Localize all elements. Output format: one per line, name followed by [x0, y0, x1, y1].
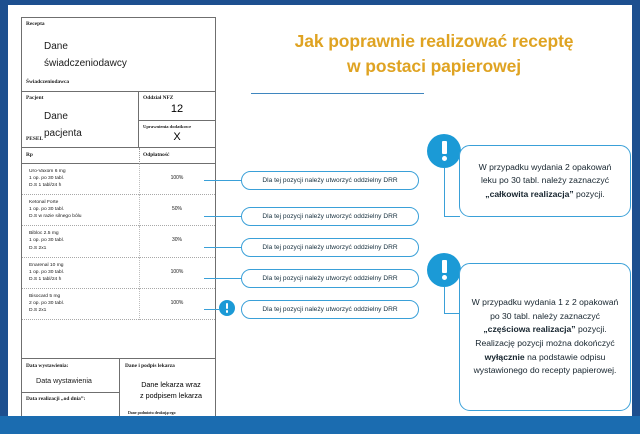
rp-column-divider [139, 148, 140, 164]
page-title-line1: Jak poprawnie realizować receptę [236, 29, 632, 54]
drug-copay: 100% [139, 300, 215, 306]
connector-row-to-pill [204, 216, 242, 217]
value-issue-date: Data wystawienia [36, 376, 92, 385]
connector-badge1-trunk [444, 168, 445, 216]
slide-root: Jak poprawnie realizować receptę w posta… [0, 0, 640, 434]
connector-badge2-to-pill [444, 313, 460, 314]
label-swiadczeniodawca: Świadczeniodawca [26, 79, 69, 85]
label-nfz: Oddział NFZ [143, 95, 173, 101]
connector-badge2-trunk [444, 287, 445, 313]
info-box-2-text: W przypadku wydania 1 z 2 opakowań po 30… [471, 296, 619, 378]
label-pacjent: Pacjent [26, 95, 43, 101]
value-patient-line1: Dane [44, 108, 82, 125]
value-doctor-line2: z podpisem lekarza [127, 390, 215, 401]
exclamation-icon-1 [427, 134, 461, 168]
form-section-patient: Pacjent Dane pacjenta PESEL Oddział NFZ … [22, 92, 215, 148]
drug-dosage: D.S 1 tabl/24 h [29, 182, 66, 189]
callout-pill-text: Dla tej pozycji należy utworzyć oddzieln… [262, 213, 397, 220]
drug-packaging: 1 op. po 30 tabl. [29, 269, 64, 276]
value-provider: Dane świadczeniodawcy [44, 38, 127, 72]
callout-pill: Dla tej pozycji należy utworzyć oddzieln… [241, 269, 419, 288]
label-printing-entity: Dane podmiotu drukującego [128, 411, 176, 415]
callout-pill-text: Dla tej pozycji należy utworzyć oddzieln… [262, 306, 397, 313]
column-header-rp: Rp [26, 152, 33, 158]
drug-dosage: D.S 1 tabl/24 h [29, 276, 64, 283]
info-box-full-realization: W przypadku wydania 2 opakowań leku po 3… [459, 145, 631, 217]
issue-date-cell: Data wystawienia: Data wystawienia Data … [22, 359, 120, 421]
drug-name: Bisocard 5 mg [29, 293, 64, 300]
drug-row: Bibloc 2.5 mg1 op. po 30 tabl.D.S 2x130% [22, 226, 215, 257]
value-provider-line1: Dane [44, 38, 127, 55]
callout-pill: Dla tej pozycji należy utworzyć oddzieln… [241, 207, 419, 226]
exclamation-icon-2 [427, 253, 461, 287]
connector-row-to-pill [204, 180, 242, 181]
drug-details: Bibloc 2.5 mg1 op. po 30 tabl.D.S 2x1 [29, 230, 64, 251]
connector-badge1-to-pill [444, 216, 460, 217]
drug-name: Ketonal Forte [29, 199, 81, 206]
value-provider-line2: świadczeniodawcy [44, 55, 127, 72]
connector-row-to-pill [204, 247, 242, 248]
drug-details: Ketonal Forte1 op. po 30 tabl.D.S w razi… [29, 199, 81, 220]
value-patient-line2: pacjenta [44, 125, 82, 142]
drug-name: Enarenal 10 mg [29, 262, 64, 269]
drug-name: Bibloc 2.5 mg [29, 230, 64, 237]
label-realization-date: Data realizacji „od dnia”: [26, 396, 85, 402]
drug-details: Enarenal 10 mg1 op. po 30 tabl.D.S 1 tab… [29, 262, 64, 283]
form-section-provider: Recepta Dane świadczeniodawcy Świadczeni… [22, 18, 215, 92]
info-box-partial-realization: W przypadku wydania 1 z 2 opakowań po 30… [459, 263, 631, 411]
drug-packaging: 1 op. po 30 tabl. [29, 237, 64, 244]
slide-canvas: Jak poprawnie realizować receptę w posta… [8, 5, 632, 416]
extra-rights-cell: Uprawnienia dodatkowe X [139, 121, 215, 148]
value-doctor: Dane lekarza wraz z podpisem lekarza [127, 379, 215, 401]
value-patient: Dane pacjenta [44, 108, 82, 142]
doctor-cell: Dane i podpis lekarza Dane lekarza wraz … [120, 359, 215, 421]
drug-rows: Uro-Vaxom 6 mg1 op. po 30 tabl.D.S 1 tab… [22, 164, 215, 320]
drug-packaging: 1 op. po 30 tabl. [29, 175, 66, 182]
value-nfz: 12 [139, 103, 215, 115]
drug-copay: 30% [139, 237, 215, 243]
form-section-footer: Data wystawienia: Data wystawienia Data … [22, 358, 215, 420]
exclamation-small-icon [219, 300, 235, 316]
form-section-rp-header: Rp Odpłatność [22, 148, 215, 164]
connector-row-to-pill [204, 278, 242, 279]
drug-copay: 50% [139, 206, 215, 212]
drug-dosage: D.S 2x1 [29, 245, 64, 252]
drug-details: Bisocard 5 mg2 op. po 30 tabl.D.S 2x1 [29, 293, 64, 314]
callout-pill: Dla tej pozycji należy utworzyć oddzieln… [241, 171, 419, 190]
bottom-accent-band [0, 416, 640, 434]
title-divider [251, 93, 424, 94]
info-text: W przypadku wydania 1 z 2 opakowań po 30… [472, 297, 619, 321]
drug-dosage: D.S w razie silnego bólu [29, 213, 81, 220]
info-box-1-text: W przypadku wydania 2 opakowań leku po 3… [471, 161, 619, 202]
drug-details: Uro-Vaxom 6 mg1 op. po 30 tabl.D.S 1 tab… [29, 168, 66, 189]
column-header-copay: Odpłatność [143, 152, 169, 158]
drug-copay: 100% [139, 269, 215, 275]
value-extra-rights: X [139, 131, 215, 143]
drug-row: Bisocard 5 mg2 op. po 30 tabl.D.S 2x1100… [22, 289, 215, 320]
label-extra-rights: Uprawnienia dodatkowe [143, 124, 191, 129]
connector-row-to-pill [204, 309, 219, 310]
page-title-line2: w postaci papierowej [236, 54, 632, 79]
label-issue-date: Data wystawienia: [26, 363, 68, 369]
drug-packaging: 2 op. po 30 tabl. [29, 300, 64, 307]
drug-row: Ketonal Forte1 op. po 30 tabl.D.S w razi… [22, 195, 215, 226]
nfz-cell: Oddział NFZ 12 [139, 92, 215, 121]
footer-divider [22, 392, 120, 393]
label-pesel: PESEL [26, 136, 43, 142]
info-emphasis: wyłącznie [485, 352, 525, 362]
info-text: pozycji. [574, 189, 605, 199]
info-emphasis: „całkowita realizacja” [485, 189, 573, 199]
callout-pill: Dla tej pozycji należy utworzyć oddzieln… [241, 238, 419, 257]
drug-name: Uro-Vaxom 6 mg [29, 168, 66, 175]
callout-pill-text: Dla tej pozycji należy utworzyć oddzieln… [262, 177, 397, 184]
drug-row: Uro-Vaxom 6 mg1 op. po 30 tabl.D.S 1 tab… [22, 164, 215, 195]
callout-pill-text: Dla tej pozycji należy utworzyć oddzieln… [262, 275, 397, 282]
drug-row: Enarenal 10 mg1 op. po 30 tabl.D.S 1 tab… [22, 258, 215, 289]
label-recepta: Recepta [26, 21, 45, 27]
callout-pill-text: Dla tej pozycji należy utworzyć oddzieln… [262, 244, 397, 251]
value-doctor-line1: Dane lekarza wraz [127, 379, 215, 390]
patient-cell: Pacjent Dane pacjenta PESEL [22, 92, 139, 148]
info-text: W przypadku wydania 2 opakowań leku po 3… [479, 162, 612, 186]
callout-pill: Dla tej pozycji należy utworzyć oddzieln… [241, 300, 419, 319]
page-title: Jak poprawnie realizować receptę w posta… [236, 29, 632, 79]
drug-packaging: 1 op. po 30 tabl. [29, 206, 81, 213]
drug-dosage: D.S 2x1 [29, 307, 64, 314]
info-emphasis: „częściowa realizacja” [483, 324, 575, 334]
prescription-form: Recepta Dane świadczeniodawcy Świadczeni… [21, 17, 216, 421]
label-doctor: Dane i podpis lekarza [125, 363, 175, 369]
